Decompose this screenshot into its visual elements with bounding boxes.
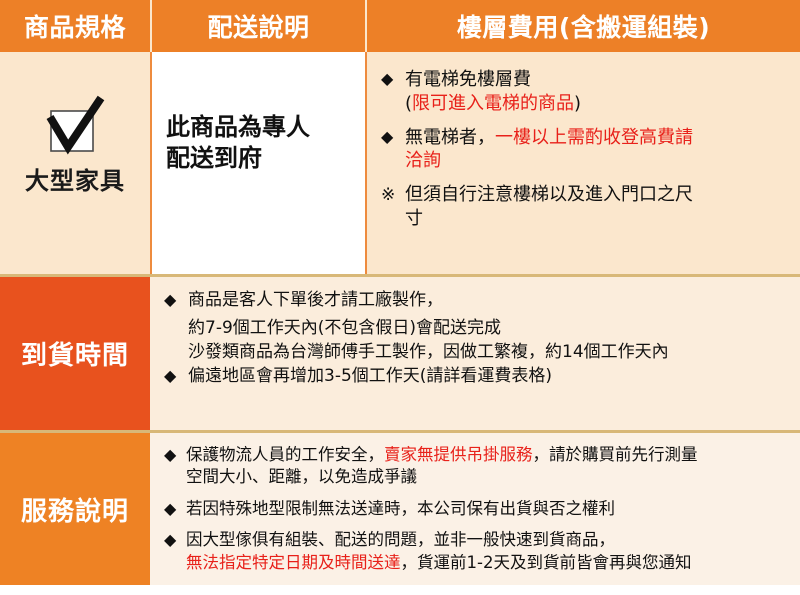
paren-close: ) [574, 93, 581, 114]
row-label-large-furniture: 大型家具 [0, 52, 150, 274]
diamond-bullet-icon: ◆ [164, 444, 186, 467]
no-hoisting-service: 賣家無提供吊掛服務 [384, 445, 533, 464]
table-row-service-note: 服務說明 ◆ 保護物流人員的工作安全，賣家無提供吊掛服務，請於購買前先行測量 空… [0, 433, 800, 585]
header-cell-delivery-note: 配送說明 [150, 0, 365, 52]
list-item: ◆ 保護物流人員的工作安全，賣家無提供吊掛服務，請於購買前先行測量 空間大小、距… [164, 444, 792, 489]
sofa-handmade-note: 沙發類商品為台灣師傅手工製作，因做工繁複，約14個工作天內 [164, 340, 790, 365]
diamond-bullet-icon: ◆ [164, 529, 186, 552]
cell-delivery-note: 此商品為專人 配送到府 [150, 52, 365, 274]
measure-space-note: 空間大小、距離，以免造成爭議 [186, 466, 792, 488]
diamond-bullet-icon: ◆ [381, 126, 405, 149]
row-label-text: 大型家具 [25, 161, 125, 196]
terrain-restriction-note: 若因特殊地型限制無法送達時，本公司保有出貨與否之權利 [186, 498, 792, 520]
working-days-note: 約7-9個工作天內(不包含假日)會配送完成 [164, 316, 790, 341]
row-label-service-note: 服務說明 [0, 433, 150, 585]
cell-service-note-content: ◆ 保護物流人員的工作安全，賣家無提供吊掛服務，請於購買前先行測量 空間大小、距… [150, 433, 800, 585]
floor-fee-elevator-limit: 限可進入電梯的商品 [412, 93, 574, 114]
list-item: ◆ 因大型傢俱有組裝、配送的問題，並非一般快速到貨商品， 無法指定特定日期及時間… [164, 529, 792, 574]
header-cell-floor-fee: 樓層費用(含搬運組裝) [365, 0, 800, 52]
list-item: ◆ 若因特殊地型限制無法送達時，本公司保有出貨與否之權利 [164, 498, 792, 521]
diamond-bullet-icon: ◆ [164, 289, 188, 312]
cell-floor-fee: ◆ 有電梯免樓層費 (限可進入電梯的商品) ◆ 無電梯者，一樓以上需酌收登高費請… [365, 52, 800, 274]
stair-measure-note-line1: 但須自行注意樓梯以及進入門口之尺 [405, 183, 792, 207]
shipping-info-table: 商品規格 配送說明 樓層費用(含搬運組裝) 大型家具 此商品為專人 配送到府 ◆ [0, 0, 800, 595]
delivery-note-line2: 配送到府 [166, 143, 310, 174]
list-item: ◆ 偏遠地區會再增加3-5個工作天(請詳看運費表格) [164, 365, 790, 388]
no-elevator-contact: 洽詢 [405, 149, 792, 173]
made-to-order-note: 商品是客人下單後才請工廠製作， [188, 289, 790, 311]
table-header-row: 商品規格 配送說明 樓層費用(含搬運組裝) [0, 0, 800, 52]
list-item: ◆ 商品是客人下單後才請工廠製作， [164, 289, 790, 312]
safety-note-suffix: ，請於購買前先行測量 [533, 445, 698, 464]
no-specific-date-warning: 無法指定特定日期及時間送達 [186, 553, 401, 572]
floor-fee-elevator-free: 有電梯免樓層費 [405, 68, 792, 92]
table-row-product-spec: 大型家具 此商品為專人 配送到府 ◆ 有電梯免樓層費 (限可進入電梯的商品) ◆ [0, 52, 800, 274]
advance-notice-note: ，貨運前1-2天及到貨前皆會再與您通知 [401, 553, 692, 572]
diamond-bullet-icon: ◆ [164, 365, 188, 388]
checked-checkbox-icon [44, 95, 106, 155]
safety-note-prefix: 保護物流人員的工作安全， [186, 445, 384, 464]
paren-open: ( [405, 93, 412, 114]
delivery-note-line1: 此商品為專人 [166, 112, 310, 143]
list-item: ◆ 無電梯者，一樓以上需酌收登高費請 洽詢 [381, 126, 792, 174]
remote-area-note: 偏遠地區會再增加3-5個工作天(請詳看運費表格) [188, 365, 790, 387]
row-label-arrival-time: 到貨時間 [0, 277, 150, 430]
diamond-bullet-icon: ◆ [164, 498, 186, 521]
cell-arrival-time-content: ◆ 商品是客人下單後才請工廠製作， 約7-9個工作天內(不包含假日)會配送完成 … [150, 277, 800, 430]
assembly-delay-note: 因大型傢俱有組裝、配送的問題，並非一般快速到貨商品， [186, 529, 792, 551]
stair-measure-note-line2: 寸 [405, 207, 792, 231]
no-elevator-fee-warning: 一樓以上需酌收登高費請 [495, 127, 693, 148]
list-item: ◆ 有電梯免樓層費 (限可進入電梯的商品) [381, 68, 792, 116]
list-item: ※ 但須自行注意樓梯以及進入門口之尺 寸 [381, 183, 792, 231]
reference-mark-icon: ※ [381, 183, 405, 207]
header-cell-product-spec: 商品規格 [0, 0, 150, 52]
no-elevator-prefix: 無電梯者， [405, 127, 495, 148]
table-row-arrival-time: 到貨時間 ◆ 商品是客人下單後才請工廠製作， 約7-9個工作天內(不包含假日)會… [0, 277, 800, 430]
diamond-bullet-icon: ◆ [381, 68, 405, 91]
bottom-margin [0, 585, 800, 595]
